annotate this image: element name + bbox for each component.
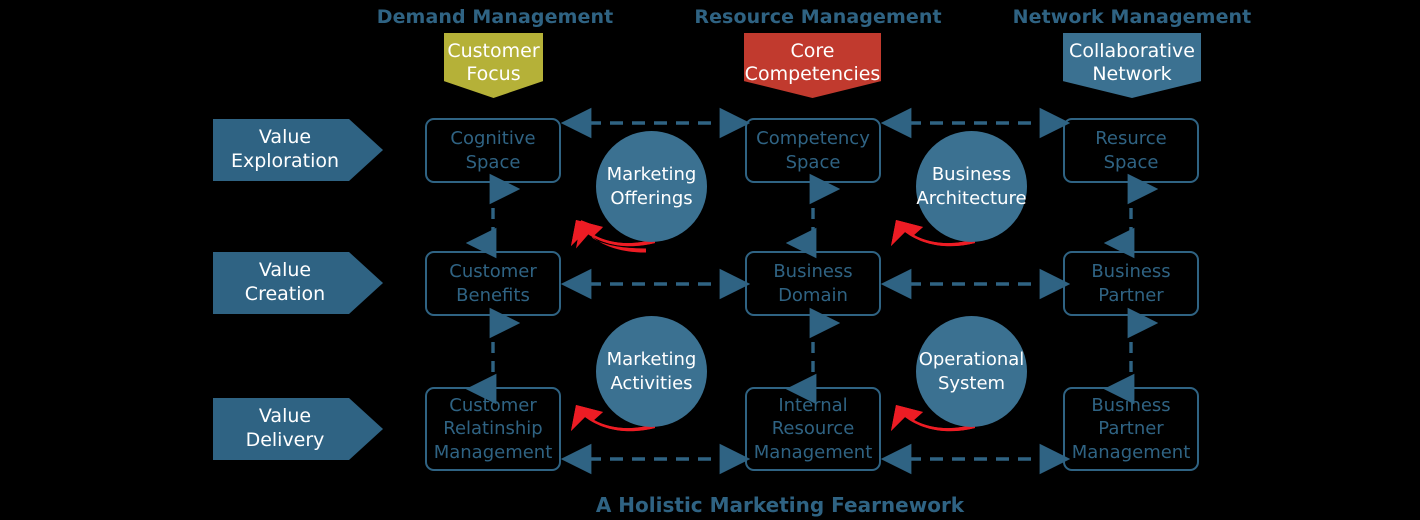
stage-value-delivery-line2: Delivery xyxy=(246,429,325,453)
stage-value-creation: Value Creation xyxy=(213,252,383,314)
banner-customer-focus: Customer Focus xyxy=(444,33,543,98)
box-business-partner-management-line3: Management xyxy=(1072,441,1191,464)
circle-business-architecture-line1: Business xyxy=(932,163,1011,186)
circle-business-architecture-line2: Architecture xyxy=(916,187,1026,210)
stage-value-creation-line1: Value xyxy=(259,259,311,283)
column-heading-demand: Demand Management xyxy=(370,6,620,28)
circle-operational-system: Operational System xyxy=(916,316,1027,427)
circle-marketing-activities-line1: Marketing xyxy=(607,348,697,371)
box-business-partner: Business Partner xyxy=(1063,251,1199,316)
box-resource-space-line2: Space xyxy=(1104,151,1159,174)
box-competency-space-line2: Space xyxy=(786,151,841,174)
box-cognitive-space: Cognitive Space xyxy=(425,118,561,183)
box-internal-resource-management-line2: Resource xyxy=(772,417,855,440)
circle-marketing-offerings-line2: Offerings xyxy=(610,187,692,210)
banner-customer-focus-line2: Focus xyxy=(466,63,520,86)
box-business-domain: Business Domain xyxy=(745,251,881,316)
box-internal-resource-management-line1: Internal xyxy=(778,394,847,417)
box-customer-relationship-management-line3: Management xyxy=(434,441,553,464)
box-customer-relationship-management: Customer Relatinship Management xyxy=(425,387,561,471)
box-business-domain-line2: Domain xyxy=(778,284,848,307)
box-competency-space-line1: Competency xyxy=(756,127,870,150)
box-customer-relationship-management-line2: Relatinship xyxy=(443,417,542,440)
banner-core-competencies-line2: Competencies xyxy=(745,63,881,86)
box-customer-relationship-management-line1: Customer xyxy=(449,394,536,417)
box-resource-space-line1: Resurce xyxy=(1095,127,1167,150)
circle-business-architecture: Business Architecture xyxy=(916,131,1027,242)
stage-value-delivery: Value Delivery xyxy=(213,398,383,460)
circle-marketing-offerings: Marketing Offerings xyxy=(596,131,707,242)
box-resource-space: Resurce Space xyxy=(1063,118,1199,183)
box-internal-resource-management-line3: Management xyxy=(754,441,873,464)
column-heading-network: Network Management xyxy=(1007,6,1257,28)
box-business-partner-management: Business Partner Management xyxy=(1063,387,1199,471)
banner-collaborative-network-line2: Network xyxy=(1092,63,1171,86)
box-business-partner-line1: Business xyxy=(1091,260,1170,283)
box-business-partner-management-line2: Partner xyxy=(1098,417,1163,440)
banner-customer-focus-line1: Customer xyxy=(447,40,539,63)
banner-core-competencies: Core Competencies xyxy=(744,33,881,98)
circle-marketing-activities-line2: Activities xyxy=(610,372,692,395)
diagram-canvas: Demand Management Resource Management Ne… xyxy=(0,0,1420,520)
box-customer-benefits: Customer Benefits xyxy=(425,251,561,316)
stage-value-exploration: Value Exploration xyxy=(213,119,383,181)
banner-core-competencies-line1: Core xyxy=(791,40,835,63)
circle-operational-system-line1: Operational xyxy=(919,348,1025,371)
stage-value-exploration-line1: Value xyxy=(259,126,311,150)
banner-collaborative-network-line1: Collaborative xyxy=(1069,40,1195,63)
circle-operational-system-line2: System xyxy=(938,372,1005,395)
box-business-domain-line1: Business xyxy=(773,260,852,283)
column-heading-resource: Resource Management xyxy=(693,6,943,28)
circle-marketing-activities: Marketing Activities xyxy=(596,316,707,427)
box-customer-benefits-line1: Customer xyxy=(449,260,536,283)
box-business-partner-management-line1: Business xyxy=(1091,394,1170,417)
circle-marketing-offerings-line1: Marketing xyxy=(607,163,697,186)
banner-collaborative-network: Collaborative Network xyxy=(1063,33,1201,98)
box-internal-resource-management: Internal Resource Management xyxy=(745,387,881,471)
diagram-caption: A Holistic Marketing Fearnework xyxy=(510,493,1050,517)
box-competency-space: Competency Space xyxy=(745,118,881,183)
box-business-partner-line2: Partner xyxy=(1098,284,1163,307)
stage-value-creation-line2: Creation xyxy=(245,283,325,307)
stage-value-delivery-line1: Value xyxy=(259,405,311,429)
box-customer-benefits-line2: Benefits xyxy=(456,284,530,307)
box-cognitive-space-line1: Cognitive xyxy=(450,127,535,150)
box-cognitive-space-line2: Space xyxy=(466,151,521,174)
stage-value-exploration-line2: Exploration xyxy=(231,150,339,174)
